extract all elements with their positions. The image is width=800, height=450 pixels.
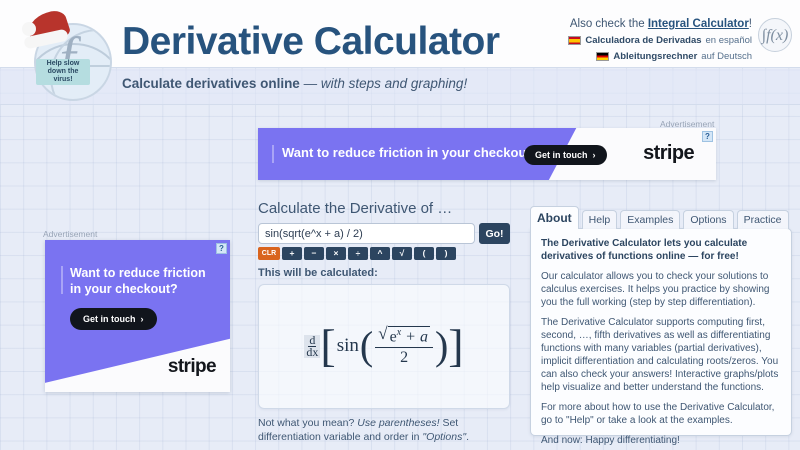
- language-link-german[interactable]: Ableitungsrechner auf Deutsch: [568, 49, 752, 64]
- subtitle-emphasis: — with steps and graphing!: [304, 76, 468, 91]
- formula-input[interactable]: [258, 223, 475, 244]
- function-name-sin: sin: [337, 335, 359, 357]
- ad-side-cta-button[interactable]: Get in touch›: [70, 308, 157, 330]
- about-paragraph-2: The Derivative Calculator supports compu…: [541, 316, 781, 394]
- page-subtitle: Calculate derivatives online — with step…: [122, 76, 467, 91]
- ad-top-accent-bar: [272, 145, 274, 163]
- lang-de-label: Ableitungsrechner: [613, 49, 697, 64]
- chevron-right-icon: ›: [593, 150, 596, 160]
- symbol-button-clear[interactable]: CLR: [258, 247, 280, 260]
- site-header: ƒ Help slow down the virus! Derivative C…: [0, 0, 800, 105]
- subtitle-bold: Calculate derivatives online: [122, 76, 300, 91]
- about-lead-text: The Derivative Calculator lets you calcu…: [541, 237, 781, 263]
- symbol-button-power[interactable]: ^: [370, 247, 390, 260]
- fraction: √ ex + a 2: [375, 326, 433, 367]
- calculator-column: Calculate the Derivative of … Go! CLR + …: [258, 200, 510, 444]
- symbol-button-paren-close[interactable]: ): [436, 247, 456, 260]
- ad-top-cta-button[interactable]: Get in touch›: [524, 145, 607, 165]
- calculator-heading: Calculate the Derivative of …: [258, 200, 510, 217]
- tab-help[interactable]: Help: [582, 210, 618, 229]
- ad-side-brand-logo: stripe: [168, 356, 216, 378]
- derivative-operator: d dx: [304, 335, 320, 358]
- paren-open-glyph: (: [360, 328, 373, 364]
- paren-close-glyph: ): [435, 328, 448, 364]
- advertisement-banner-top[interactable]: Want to reduce friction in your checkout…: [258, 128, 716, 180]
- ad-side-accent-bar: [61, 266, 63, 294]
- lang-es-suffix: en español: [706, 33, 752, 48]
- formula-input-row: Go!: [258, 223, 510, 244]
- site-logo[interactable]: ƒ Help slow down the virus!: [22, 13, 114, 101]
- header-links: Also check the Integral Calculator! Calc…: [568, 17, 752, 64]
- virus-notice-badge: Help slow down the virus!: [36, 59, 90, 85]
- chevron-right-icon: ›: [141, 314, 144, 324]
- tab-examples[interactable]: Examples: [620, 210, 680, 229]
- adchoices-icon-side[interactable]: ?: [216, 243, 227, 254]
- ad-side-cta-label: Get in touch: [83, 314, 136, 324]
- also-check-line: Also check the Integral Calculator!: [568, 17, 752, 32]
- will-be-calculated-label: This will be calculated:: [258, 267, 510, 279]
- bracket-close: ]: [448, 327, 463, 365]
- tab-options[interactable]: Options: [683, 210, 733, 229]
- flag-spain-icon: [568, 36, 581, 45]
- hint-emphasis-2: "Options": [422, 431, 466, 443]
- hint-text-3: .: [466, 431, 469, 443]
- symbol-button-sqrt[interactable]: √: [392, 247, 412, 260]
- lang-de-suffix: auf Deutsch: [701, 49, 752, 64]
- square-root-expression: √ ex + a: [378, 326, 430, 346]
- tab-about[interactable]: About: [530, 206, 579, 229]
- symbol-button-minus[interactable]: −: [304, 247, 324, 260]
- tab-panel-about: The Derivative Calculator lets you calcu…: [530, 228, 792, 436]
- radical-icon: √: [378, 326, 387, 346]
- also-check-prefix: Also check the: [570, 18, 648, 30]
- tab-bar: About Help Examples Options Practice: [530, 206, 792, 229]
- euler-base: e: [390, 328, 397, 345]
- adchoices-icon-top[interactable]: ?: [702, 131, 713, 142]
- lang-es-label: Calculadora de Derivadas: [585, 33, 701, 48]
- ad-top-brand-logo: stripe: [643, 142, 694, 165]
- ad-side-headline: Want to reduce friction in your checkout…: [70, 265, 220, 297]
- symbol-button-plus[interactable]: +: [282, 247, 302, 260]
- rendered-formula: d dx [ sin ( √ ex + a 2 ) ]: [304, 326, 463, 367]
- santa-hat-icon: [22, 13, 74, 53]
- language-link-spanish[interactable]: Calculadora de Derivadas en español: [568, 33, 752, 48]
- ad-top-headline: Want to reduce friction in your checkout…: [282, 145, 539, 160]
- info-panel: About Help Examples Options Practice The…: [530, 206, 792, 436]
- hint-emphasis-1: Use parentheses!: [357, 417, 439, 429]
- also-check-suffix: !: [749, 18, 752, 30]
- rendered-formula-box: d dx [ sin ( √ ex + a 2 ) ]: [258, 284, 510, 409]
- fraction-denominator: 2: [400, 348, 408, 367]
- symbol-button-divide[interactable]: ÷: [348, 247, 368, 260]
- derivative-operator-denominator: dx: [306, 347, 318, 358]
- symbol-button-bar: CLR + − × ÷ ^ √ ( ): [258, 247, 510, 260]
- fraction-numerator: √ ex + a: [375, 326, 433, 348]
- parentheses-hint: Not what you mean? Use parentheses! Set …: [258, 416, 510, 444]
- page-title: Derivative Calculator: [122, 20, 500, 64]
- euler-exponent: x: [397, 327, 401, 338]
- ad-label-side: Advertisement: [43, 229, 97, 239]
- about-paragraph-1: Our calculator allows you to check your …: [541, 270, 781, 309]
- advertisement-banner-side[interactable]: Want to reduce friction in your checkout…: [45, 240, 230, 392]
- about-paragraph-4: And now: Happy differentiating!: [541, 434, 781, 447]
- ad-top-cta-label: Get in touch: [535, 150, 588, 160]
- go-button[interactable]: Go!: [479, 223, 510, 244]
- integral-calculator-link[interactable]: Integral Calculator: [648, 18, 749, 30]
- tab-practice[interactable]: Practice: [737, 210, 789, 229]
- integral-calculator-logo-icon[interactable]: ∫f(x): [758, 18, 792, 52]
- hint-text-1: Not what you mean?: [258, 417, 354, 429]
- radicand-rest: + a: [405, 328, 428, 345]
- flag-germany-icon: [596, 52, 609, 61]
- radicand: ex + a: [388, 326, 430, 346]
- bracket-open: [: [320, 327, 335, 365]
- symbol-button-times[interactable]: ×: [326, 247, 346, 260]
- about-paragraph-3: For more about how to use the Derivative…: [541, 401, 781, 427]
- symbol-button-paren-open[interactable]: (: [414, 247, 434, 260]
